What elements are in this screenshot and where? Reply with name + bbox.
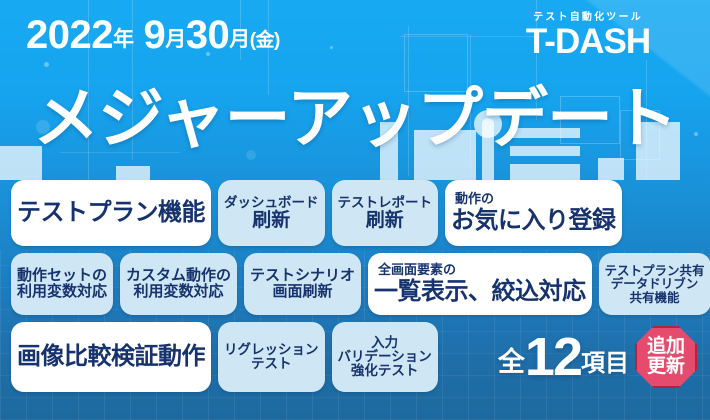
feature-card: カスタム動作の利用変数対応 (120, 253, 237, 315)
feature-card-line: お気に入り登録 (451, 208, 616, 233)
total-and-badge-zone: 全12項目 追加 更新 (445, 322, 699, 392)
feature-card-line: 全画面要素の (374, 264, 456, 278)
feature-card-line: 刷新 (252, 210, 290, 230)
feature-card: テストレポート刷新 (332, 180, 439, 246)
feature-card: リグレッションテスト (218, 322, 325, 392)
total-items-label: 全12項目 (498, 326, 629, 388)
total-count: 12 (525, 327, 581, 387)
feature-card-line: 利用変数対応 (134, 284, 224, 300)
feature-card-line: テストレポート (338, 196, 433, 210)
badge-line-2: 更新 (647, 357, 685, 377)
feature-card-line: ダッシュボード (224, 196, 319, 210)
logo-wordmark: T-DASH (488, 24, 688, 60)
feature-card-line: データドリブン (611, 277, 699, 290)
additional-update-badge: 追加 更新 (635, 326, 697, 388)
total-prefix: 全 (498, 347, 525, 377)
feature-card: テストプラン機能 (11, 180, 211, 246)
feature-card-line: テストプラン機能 (17, 200, 205, 225)
feature-row-1: テストプラン機能ダッシュボード刷新テストレポート刷新動作のお気に入り登録 (0, 180, 710, 246)
release-date: 2022年9月30月(金) (26, 14, 280, 56)
feature-card: 全画面要素の一覧表示、絞込対応 (368, 253, 592, 315)
feature-card: 動作セットの利用変数対応 (11, 253, 113, 315)
feature-card-line: 入力 (371, 336, 398, 350)
feature-card-line: 強化テスト (351, 364, 419, 378)
feature-card-line: リグレッション (224, 343, 319, 357)
feature-card-rows: テストプラン機能ダッシュボード刷新テストレポート刷新動作のお気に入り登録 動作セ… (0, 180, 710, 399)
date-day: 30 (186, 13, 230, 57)
logo-kicker-text: テスト自動化ツール (488, 8, 688, 23)
feature-card-line: 一覧表示、絞込対応 (374, 279, 586, 304)
date-month: 9 (143, 13, 165, 57)
feature-card-line: テストプラン共有 (605, 264, 705, 277)
date-weekday: (金) (250, 30, 280, 51)
feature-card-line: 刷新 (366, 210, 404, 230)
feature-card-line: バリデーション (338, 350, 432, 364)
feature-card: テストシナリオ画面刷新 (244, 253, 361, 315)
feature-card-line: テスト (251, 357, 292, 371)
feature-card: 入力バリデーション強化テスト (332, 322, 438, 392)
product-logo: テスト自動化ツール T-DASH (488, 8, 688, 60)
feature-card: テストプラン共有データドリブン共有機能 (599, 253, 710, 315)
badge-line-1: 追加 (647, 337, 685, 357)
headline-text: メジャーアップデート (0, 79, 710, 159)
feature-card-line: 共有機能 (630, 291, 680, 304)
banner-header: 2022年9月30月(金) テスト自動化ツール T-DASH (0, 0, 710, 72)
date-month-unit: 月 (165, 28, 186, 51)
promo-banner: 2022年9月30月(金) テスト自動化ツール T-DASH メジャーアップデー… (0, 0, 710, 420)
date-year: 2022 (26, 13, 113, 57)
feature-card: 動作のお気に入り登録 (445, 180, 622, 246)
feature-row-2: 動作セットの利用変数対応カスタム動作の利用変数対応テストシナリオ画面刷新全画面要… (0, 253, 710, 315)
feature-card-line: 画面刷新 (273, 284, 333, 300)
total-suffix: 項目 (581, 350, 629, 377)
feature-card: ダッシュボード刷新 (218, 180, 325, 246)
feature-card-line: 利用変数対応 (17, 284, 107, 300)
feature-card: 画像比較検証動作 (11, 322, 211, 392)
feature-card-line: 画像比較検証動作 (17, 344, 205, 369)
date-day-unit: 月 (229, 28, 250, 51)
feature-card-line: 動作の (451, 193, 494, 207)
date-year-unit: 年 (113, 28, 134, 51)
feature-row-3: 画像比較検証動作リグレッションテスト入力バリデーション強化テスト 全12項目 追… (0, 322, 710, 392)
